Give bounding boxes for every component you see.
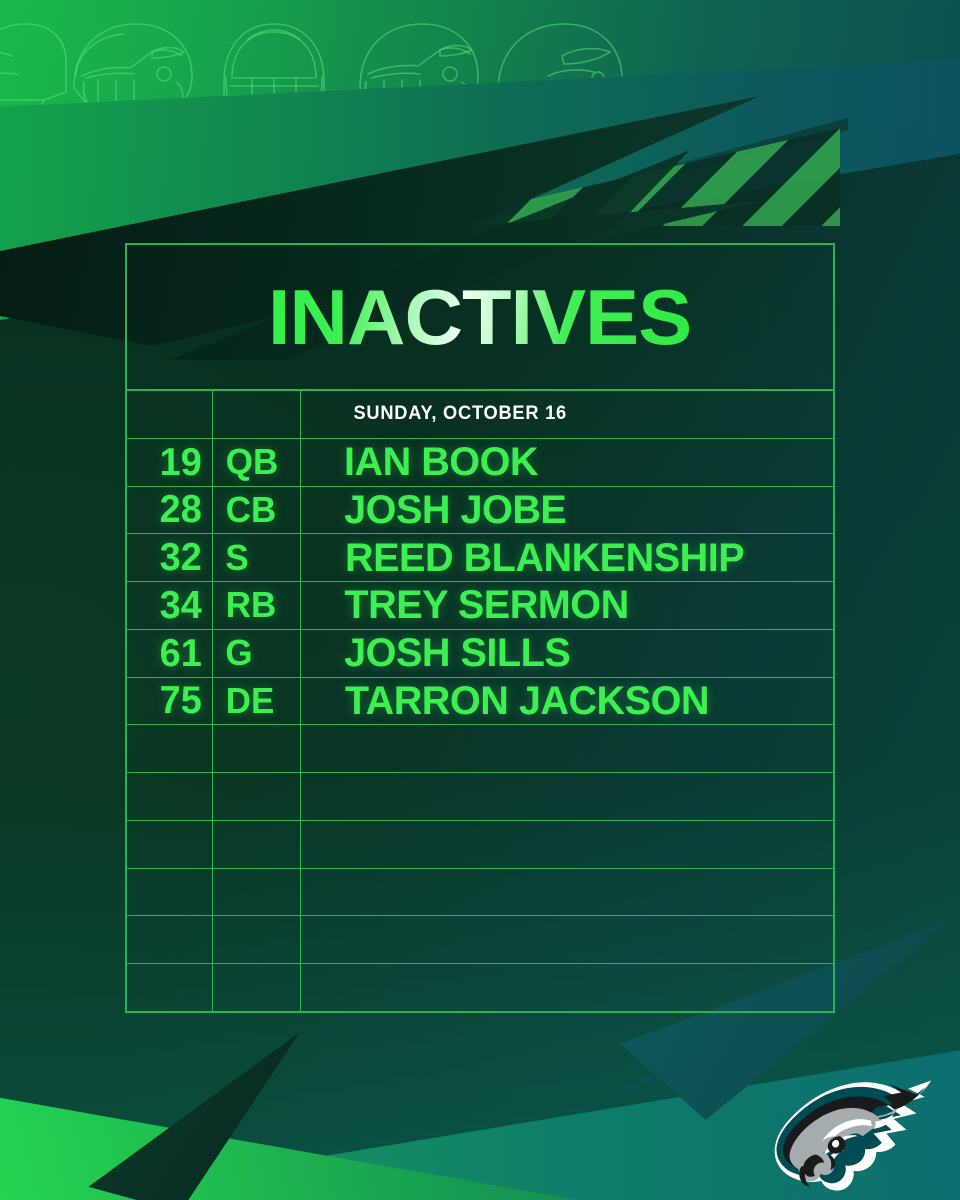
cell-number: 32 xyxy=(127,534,213,581)
player-position: G xyxy=(225,635,252,671)
table-row-empty xyxy=(127,821,833,869)
cell-position xyxy=(213,916,301,963)
table-row-empty xyxy=(127,869,833,917)
cell-name xyxy=(301,821,833,868)
cell-name xyxy=(301,964,833,1011)
player-name: REED BLANKENSHIP xyxy=(345,538,744,578)
cell-position xyxy=(213,725,301,772)
player-name: IAN BOOK xyxy=(344,442,538,482)
cell-number xyxy=(127,821,213,868)
cell-number xyxy=(127,725,213,772)
cell-name: TARRON JACKSON xyxy=(301,678,833,725)
player-name: JOSH SILLS xyxy=(344,633,570,673)
table-row-empty xyxy=(127,916,833,964)
cell-number: 28 xyxy=(127,487,213,534)
header-cell-position xyxy=(213,391,301,438)
player-name: JOSH JOBE xyxy=(344,490,566,530)
cell-name: IAN BOOK xyxy=(301,439,833,486)
player-name: TREY SERMON xyxy=(344,585,628,625)
cell-name: JOSH SILLS xyxy=(301,630,833,677)
cell-number: 34 xyxy=(127,582,213,629)
player-number: 19 xyxy=(159,443,201,482)
table-row: 19 QB IAN BOOK xyxy=(127,439,833,487)
table-row-empty xyxy=(127,725,833,773)
cell-position: S xyxy=(213,534,301,581)
cell-position: QB xyxy=(213,439,301,486)
table-row: 61 G JOSH SILLS xyxy=(127,630,833,678)
player-position: S xyxy=(225,540,248,576)
inactives-table: SUNDAY, OCTOBER 16 19 QB IAN BOOK 28 CB … xyxy=(127,391,833,1011)
cell-name: TREY SERMON xyxy=(301,582,833,629)
cell-number xyxy=(127,869,213,916)
eagles-head-logo-icon xyxy=(760,1064,945,1192)
date-label: SUNDAY, OCTOBER 16 xyxy=(353,403,567,425)
cell-position: RB xyxy=(213,582,301,629)
graphic-canvas: INACTIVES SUNDAY, OCTOBER 16 19 QB IAN B… xyxy=(0,0,960,1200)
cell-number: 19 xyxy=(127,439,213,486)
cell-position: DE xyxy=(213,678,301,725)
title-row: INACTIVES xyxy=(127,245,833,391)
cell-position xyxy=(213,821,301,868)
inactives-card: INACTIVES SUNDAY, OCTOBER 16 19 QB IAN B… xyxy=(125,243,835,1013)
cell-name xyxy=(301,916,833,963)
table-row: 32 S REED BLANKENSHIP xyxy=(127,534,833,582)
cell-position: CB xyxy=(213,487,301,534)
cell-number: 75 xyxy=(127,678,213,725)
header-cell-date: SUNDAY, OCTOBER 16 xyxy=(301,391,833,438)
player-number: 61 xyxy=(159,634,201,673)
player-number: 34 xyxy=(159,586,201,625)
table-header-row: SUNDAY, OCTOBER 16 xyxy=(127,391,833,439)
cell-name: JOSH JOBE xyxy=(301,487,833,534)
cell-number xyxy=(127,773,213,820)
player-position: RB xyxy=(226,587,276,623)
player-number: 75 xyxy=(159,681,201,720)
cell-name: REED BLANKENSHIP xyxy=(301,534,833,581)
player-number: 28 xyxy=(159,490,201,529)
cell-number xyxy=(127,916,213,963)
cell-number: 61 xyxy=(127,630,213,677)
cell-number xyxy=(127,964,213,1011)
cell-name xyxy=(301,869,833,916)
player-name: TARRON JACKSON xyxy=(345,681,709,721)
player-position: DE xyxy=(226,683,275,719)
table-row-empty xyxy=(127,964,833,1011)
cell-position: G xyxy=(213,630,301,677)
cell-name xyxy=(301,725,833,772)
table-row-empty xyxy=(127,773,833,821)
player-number: 32 xyxy=(159,538,201,577)
cell-position xyxy=(213,773,301,820)
player-position: QB xyxy=(226,444,278,480)
cell-position xyxy=(213,964,301,1011)
cell-name xyxy=(301,773,833,820)
table-row: 34 RB TREY SERMON xyxy=(127,582,833,630)
page-title: INACTIVES xyxy=(268,272,691,363)
header-cell-number xyxy=(127,391,213,438)
table-row: 75 DE TARRON JACKSON xyxy=(127,678,833,726)
player-position: CB xyxy=(226,492,276,528)
cell-position xyxy=(213,869,301,916)
table-row: 28 CB JOSH JOBE xyxy=(127,487,833,535)
